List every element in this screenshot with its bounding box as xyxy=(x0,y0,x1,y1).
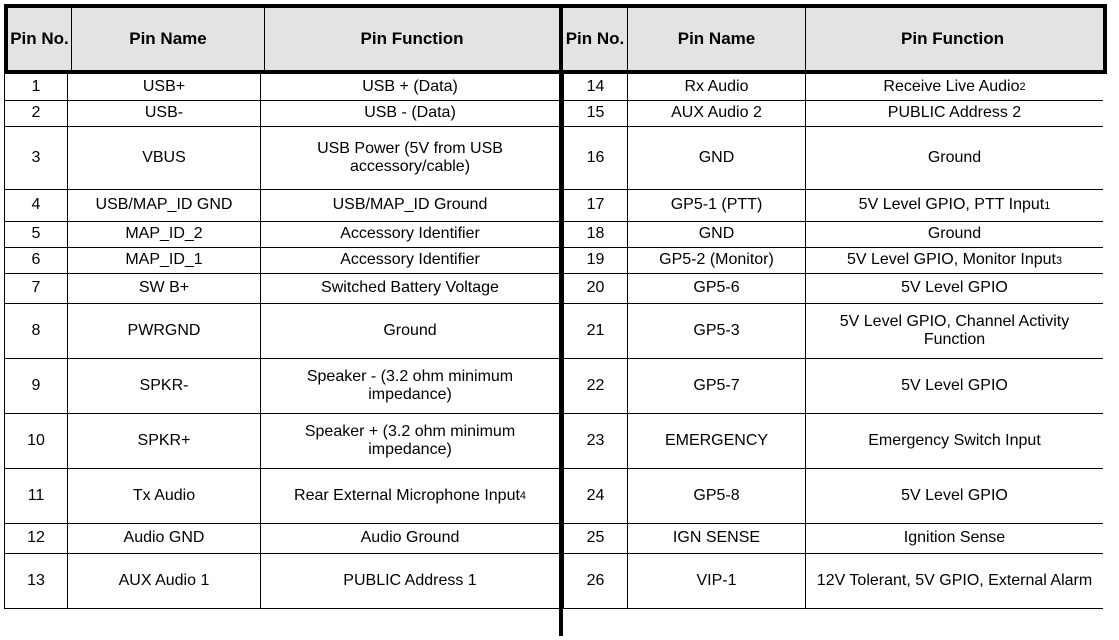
cell-pin-name: SPKR- xyxy=(68,359,261,413)
cell-pin-name: AUX Audio 1 xyxy=(68,554,261,608)
table-row: 3VBUSUSB Power (5V from USB accessory/ca… xyxy=(4,127,559,190)
cell-pin-name: IGN SENSE xyxy=(628,524,806,553)
cell-pin-no: 16 xyxy=(563,127,628,189)
cell-pin-no: 24 xyxy=(563,469,628,523)
pin-function-text: PUBLIC Address 1 xyxy=(343,572,476,590)
table-row: 10SPKR+Speaker + (3.2 ohm minimum impeda… xyxy=(4,414,559,469)
pin-function-text: 5V Level GPIO, Monitor Input xyxy=(847,251,1056,269)
header-cell-pin-name-right: Pin Name xyxy=(628,8,806,70)
cell-pin-no: 2 xyxy=(4,101,68,126)
cell-pin-function: Accessory Identifier xyxy=(261,222,559,247)
cell-pin-function: 5V Level GPIO xyxy=(806,359,1103,413)
table-row: 11Tx AudioRear External Microphone Input… xyxy=(4,469,559,524)
table-row: 5MAP_ID_2Accessory Identifier xyxy=(4,222,559,248)
cell-pin-function: PUBLIC Address 2 xyxy=(806,101,1103,126)
cell-pin-function: Speaker + (3.2 ohm minimum impedance) xyxy=(261,414,559,468)
pin-function-text: Speaker - (3.2 ohm minimum impedance) xyxy=(264,368,556,404)
pin-function-text: Accessory Identifier xyxy=(340,251,480,269)
pin-function-text: Ground xyxy=(383,322,436,340)
cell-pin-no: 6 xyxy=(4,248,68,273)
table-row: 2USB-USB - (Data) xyxy=(4,101,559,127)
cell-pin-no: 7 xyxy=(4,274,68,303)
pin-function-text: USB Power (5V from USB accessory/cable) xyxy=(264,140,556,176)
cell-pin-no: 9 xyxy=(4,359,68,413)
cell-pin-name: GP5-1 (PTT) xyxy=(628,190,806,221)
pin-function-text: USB + (Data) xyxy=(362,78,458,96)
cell-pin-no: 17 xyxy=(563,190,628,221)
cell-pin-name: SW B+ xyxy=(68,274,261,303)
cell-pin-function: USB Power (5V from USB accessory/cable) xyxy=(261,127,559,189)
cell-pin-no: 12 xyxy=(4,524,68,553)
header-cell-pin-function-right: Pin Function xyxy=(806,8,1099,70)
cell-pin-function: USB - (Data) xyxy=(261,101,559,126)
header-cell-pin-function-left: Pin Function xyxy=(265,8,563,70)
table-row: 13AUX Audio 1PUBLIC Address 1 xyxy=(4,554,559,609)
cell-pin-function: Rear External Microphone Input4 xyxy=(261,469,559,523)
pin-function-text: Ignition Sense xyxy=(904,529,1005,547)
pinout-table-page: Pin No. Pin Name Pin Function Pin No. Pi… xyxy=(0,0,1119,640)
table-row: 26VIP-112V Tolerant, 5V GPIO, External A… xyxy=(563,554,1103,609)
table-row: 4USB/MAP_ID GNDUSB/MAP_ID Ground xyxy=(4,190,559,222)
table-row: 17GP5-1 (PTT)5V Level GPIO, PTT Input1 xyxy=(563,190,1103,222)
table-half-left: 1USB+USB + (Data)2USB-USB - (Data)3VBUSU… xyxy=(4,74,563,636)
cell-pin-function: 5V Level GPIO, Channel Activity Function xyxy=(806,304,1103,358)
cell-pin-no: 13 xyxy=(4,554,68,608)
cell-pin-no: 3 xyxy=(4,127,68,189)
cell-pin-function: USB/MAP_ID Ground xyxy=(261,190,559,221)
cell-pin-no: 15 xyxy=(563,101,628,126)
cell-pin-name: Tx Audio xyxy=(68,469,261,523)
cell-pin-name: GP5-2 (Monitor) xyxy=(628,248,806,273)
cell-pin-no: 19 xyxy=(563,248,628,273)
cell-pin-name: MAP_ID_2 xyxy=(68,222,261,247)
cell-pin-no: 23 xyxy=(563,414,628,468)
table-row: 24GP5-85V Level GPIO xyxy=(563,469,1103,524)
table-row: 19GP5-2 (Monitor)5V Level GPIO, Monitor … xyxy=(563,248,1103,274)
table-row: 14Rx AudioReceive Live Audio2 xyxy=(563,74,1103,101)
table-header-band: Pin No. Pin Name Pin Function Pin No. Pi… xyxy=(4,4,1107,74)
cell-pin-name: Rx Audio xyxy=(628,74,806,100)
cell-pin-name: GND xyxy=(628,127,806,189)
table-row: 23EMERGENCYEmergency Switch Input xyxy=(563,414,1103,469)
pin-function-text: 12V Tolerant, 5V GPIO, External Alarm xyxy=(817,572,1092,590)
cell-pin-function: Speaker - (3.2 ohm minimum impedance) xyxy=(261,359,559,413)
cell-pin-no: 11 xyxy=(4,469,68,523)
table-row: 25IGN SENSEIgnition Sense xyxy=(563,524,1103,554)
table-row: 7SW B+Switched Battery Voltage xyxy=(4,274,559,304)
cell-pin-no: 21 xyxy=(563,304,628,358)
pin-function-text: Accessory Identifier xyxy=(340,225,480,243)
cell-pin-name: GP5-7 xyxy=(628,359,806,413)
table-row: 8PWRGNDGround xyxy=(4,304,559,359)
table-row: 20GP5-65V Level GPIO xyxy=(563,274,1103,304)
pin-function-text: USB - (Data) xyxy=(364,104,456,122)
pin-function-text: 5V Level GPIO, PTT Input xyxy=(859,196,1045,214)
cell-pin-name: USB+ xyxy=(68,74,261,100)
cell-pin-function: Audio Ground xyxy=(261,524,559,553)
pin-function-text: 5V Level GPIO xyxy=(901,377,1008,395)
table-row: 1USB+USB + (Data) xyxy=(4,74,559,101)
cell-pin-name: VIP-1 xyxy=(628,554,806,608)
cell-pin-function: Ground xyxy=(806,222,1103,247)
pin-function-text: 5V Level GPIO xyxy=(901,487,1008,505)
cell-pin-function: Accessory Identifier xyxy=(261,248,559,273)
table-row: 16GNDGround xyxy=(563,127,1103,190)
cell-pin-name: EMERGENCY xyxy=(628,414,806,468)
cell-pin-function: 12V Tolerant, 5V GPIO, External Alarm xyxy=(806,554,1103,608)
cell-pin-function: 5V Level GPIO xyxy=(806,469,1103,523)
table-row: 21GP5-35V Level GPIO, Channel Activity F… xyxy=(563,304,1103,359)
cell-pin-name: GP5-3 xyxy=(628,304,806,358)
cell-pin-function: Ground xyxy=(261,304,559,358)
cell-pin-function: 5V Level GPIO, PTT Input1 xyxy=(806,190,1103,221)
table-row: 22GP5-75V Level GPIO xyxy=(563,359,1103,414)
cell-pin-function: USB + (Data) xyxy=(261,74,559,100)
cell-pin-no: 18 xyxy=(563,222,628,247)
cell-pin-name: USB/MAP_ID GND xyxy=(68,190,261,221)
cell-pin-no: 20 xyxy=(563,274,628,303)
pin-function-text: Audio Ground xyxy=(361,529,460,547)
cell-pin-name: VBUS xyxy=(68,127,261,189)
cell-pin-no: 26 xyxy=(563,554,628,608)
pin-function-text: Receive Live Audio xyxy=(883,78,1019,96)
pin-function-text: PUBLIC Address 2 xyxy=(888,104,1021,122)
cell-pin-name: AUX Audio 2 xyxy=(628,101,806,126)
header-cell-pin-no-right: Pin No. xyxy=(563,8,628,70)
table-half-right: 14Rx AudioReceive Live Audio215AUX Audio… xyxy=(563,74,1103,636)
header-cell-pin-no-left: Pin No. xyxy=(8,8,72,70)
cell-pin-no: 22 xyxy=(563,359,628,413)
table-row: 6MAP_ID_1Accessory Identifier xyxy=(4,248,559,274)
cell-pin-name: PWRGND xyxy=(68,304,261,358)
pin-function-text: Speaker + (3.2 ohm minimum impedance) xyxy=(264,423,556,459)
cell-pin-name: GP5-6 xyxy=(628,274,806,303)
table-row: 15AUX Audio 2PUBLIC Address 2 xyxy=(563,101,1103,127)
cell-pin-function: 5V Level GPIO, Monitor Input3 xyxy=(806,248,1103,273)
table-row: 9SPKR-Speaker - (3.2 ohm minimum impedan… xyxy=(4,359,559,414)
pin-function-text: Ground xyxy=(928,149,981,167)
cell-pin-name: MAP_ID_1 xyxy=(68,248,261,273)
cell-pin-name: USB- xyxy=(68,101,261,126)
cell-pin-name: Audio GND xyxy=(68,524,261,553)
table-body: 1USB+USB + (Data)2USB-USB - (Data)3VBUSU… xyxy=(4,74,1107,636)
cell-pin-no: 14 xyxy=(563,74,628,100)
cell-pin-function: Receive Live Audio2 xyxy=(806,74,1103,100)
header-cell-pin-name-left: Pin Name xyxy=(72,8,265,70)
cell-pin-no: 1 xyxy=(4,74,68,100)
pin-function-text: Ground xyxy=(928,225,981,243)
pin-function-text: USB/MAP_ID Ground xyxy=(333,196,488,214)
cell-pin-name: SPKR+ xyxy=(68,414,261,468)
cell-pin-name: GP5-8 xyxy=(628,469,806,523)
pin-function-text: Switched Battery Voltage xyxy=(321,279,499,297)
cell-pin-name: GND xyxy=(628,222,806,247)
cell-pin-function: PUBLIC Address 1 xyxy=(261,554,559,608)
cell-pin-no: 8 xyxy=(4,304,68,358)
cell-pin-no: 4 xyxy=(4,190,68,221)
pin-function-text: 5V Level GPIO, Channel Activity Function xyxy=(809,313,1100,349)
pin-function-text: Rear External Microphone Input xyxy=(294,487,520,505)
cell-pin-no: 25 xyxy=(563,524,628,553)
table-row: 12Audio GNDAudio Ground xyxy=(4,524,559,554)
cell-pin-no: 5 xyxy=(4,222,68,247)
table-row: 18GNDGround xyxy=(563,222,1103,248)
cell-pin-function: 5V Level GPIO xyxy=(806,274,1103,303)
cell-pin-function: Switched Battery Voltage xyxy=(261,274,559,303)
cell-pin-no: 10 xyxy=(4,414,68,468)
cell-pin-function: Ignition Sense xyxy=(806,524,1103,553)
pin-function-text: Emergency Switch Input xyxy=(868,432,1041,450)
cell-pin-function: Emergency Switch Input xyxy=(806,414,1103,468)
pin-function-text: 5V Level GPIO xyxy=(901,279,1008,297)
cell-pin-function: Ground xyxy=(806,127,1103,189)
